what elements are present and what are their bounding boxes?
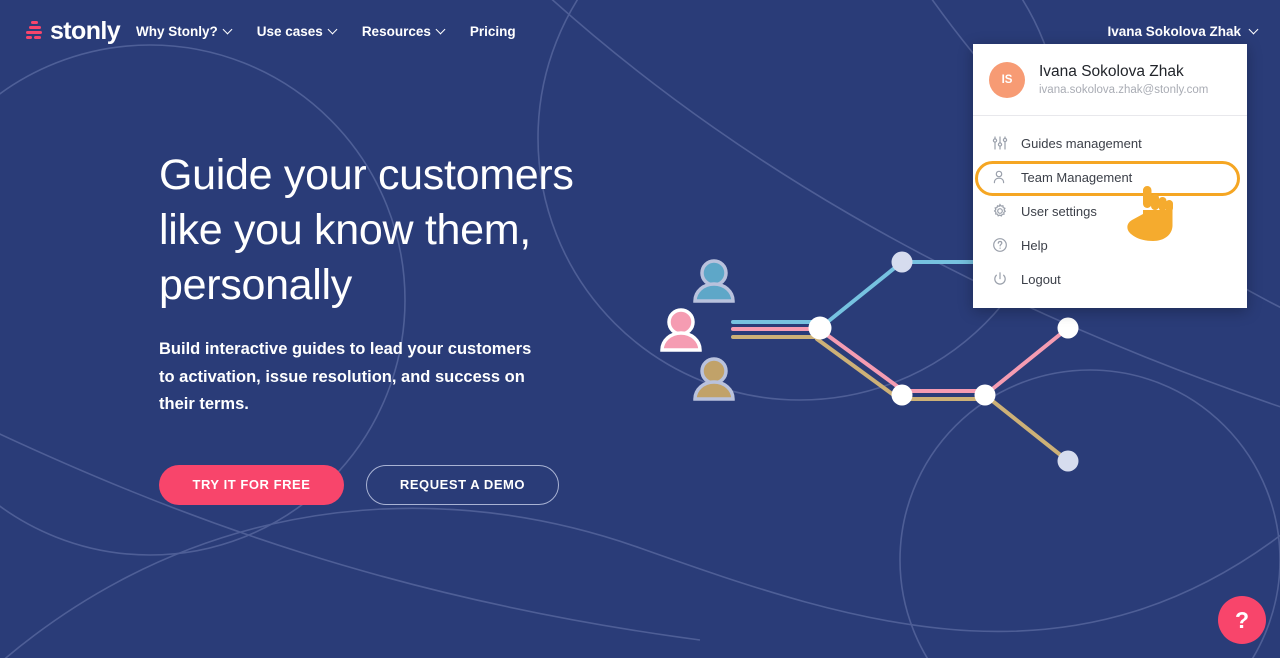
sliders-icon (991, 135, 1008, 152)
user-outline-icon (991, 169, 1008, 186)
question-mark-icon: ? (1235, 607, 1249, 634)
nav-item-pricing[interactable]: Pricing (470, 24, 516, 39)
user-dropdown-items: Guides management Team Management (973, 116, 1247, 296)
nav-item-label: Why Stonly? (136, 24, 218, 39)
menu-item-help[interactable]: Help (973, 228, 1247, 262)
request-a-demo-button[interactable]: REQUEST A DEMO (366, 465, 559, 505)
stonly-landing-page: stonly Why Stonly? Use cases Resources P… (0, 0, 1280, 658)
menu-item-label: Team Management (1021, 170, 1132, 185)
user-menu-trigger-label: Ivana Sokolova Zhak (1107, 24, 1241, 39)
brand-logo[interactable]: stonly (26, 19, 120, 44)
brand-name: stonly (50, 19, 120, 44)
hero-cta-group: TRY IT FOR FREE REQUEST A DEMO (159, 465, 719, 505)
user-dropdown-menu: IS Ivana Sokolova Zhak ivana.sokolova.zh… (973, 44, 1247, 308)
nav-item-why-stonly[interactable]: Why Stonly? (136, 24, 232, 39)
help-bubble-button[interactable]: ? (1218, 596, 1266, 644)
menu-item-team-management[interactable]: Team Management (973, 160, 1247, 194)
nav-links: Why Stonly? Use cases Resources Pricing (136, 24, 516, 39)
chevron-down-icon (224, 26, 232, 34)
user-email: ivana.sokolova.zhak@stonly.com (1039, 84, 1208, 96)
power-icon (991, 271, 1008, 288)
user-full-name: Ivana Sokolova Zhak (1039, 63, 1208, 81)
user-dropdown-header: IS Ivana Sokolova Zhak ivana.sokolova.zh… (973, 44, 1247, 116)
user-menu-trigger[interactable]: Ivana Sokolova Zhak (1107, 24, 1258, 39)
nav-item-label: Use cases (257, 24, 323, 39)
menu-item-guides-management[interactable]: Guides management (973, 126, 1247, 160)
menu-item-label: Guides management (1021, 136, 1142, 151)
try-it-for-free-button[interactable]: TRY IT FOR FREE (159, 465, 344, 505)
user-identity: Ivana Sokolova Zhak ivana.sokolova.zhak@… (1039, 63, 1208, 96)
gear-icon (991, 203, 1008, 220)
hero-title: Guide your customers like you know them,… (159, 148, 719, 313)
nav-item-use-cases[interactable]: Use cases (257, 24, 337, 39)
hero-section: Guide your customers like you know them,… (159, 148, 719, 505)
menu-item-label: Help (1021, 238, 1048, 253)
stonly-stacked-bars-icon (26, 21, 43, 43)
chevron-down-icon (437, 26, 445, 34)
chevron-down-icon (1250, 26, 1258, 34)
nav-item-label: Resources (362, 24, 431, 39)
menu-item-label: Logout (1021, 272, 1061, 287)
menu-item-logout[interactable]: Logout (973, 262, 1247, 296)
nav-item-label: Pricing (470, 24, 516, 39)
nav-item-resources[interactable]: Resources (362, 24, 445, 39)
avatar: IS (989, 62, 1025, 98)
menu-item-user-settings[interactable]: User settings (973, 194, 1247, 228)
menu-item-label: User settings (1021, 204, 1097, 219)
hero-subtitle: Build interactive guides to lead your cu… (159, 336, 719, 419)
chevron-down-icon (329, 26, 337, 34)
question-circle-icon (991, 237, 1008, 254)
